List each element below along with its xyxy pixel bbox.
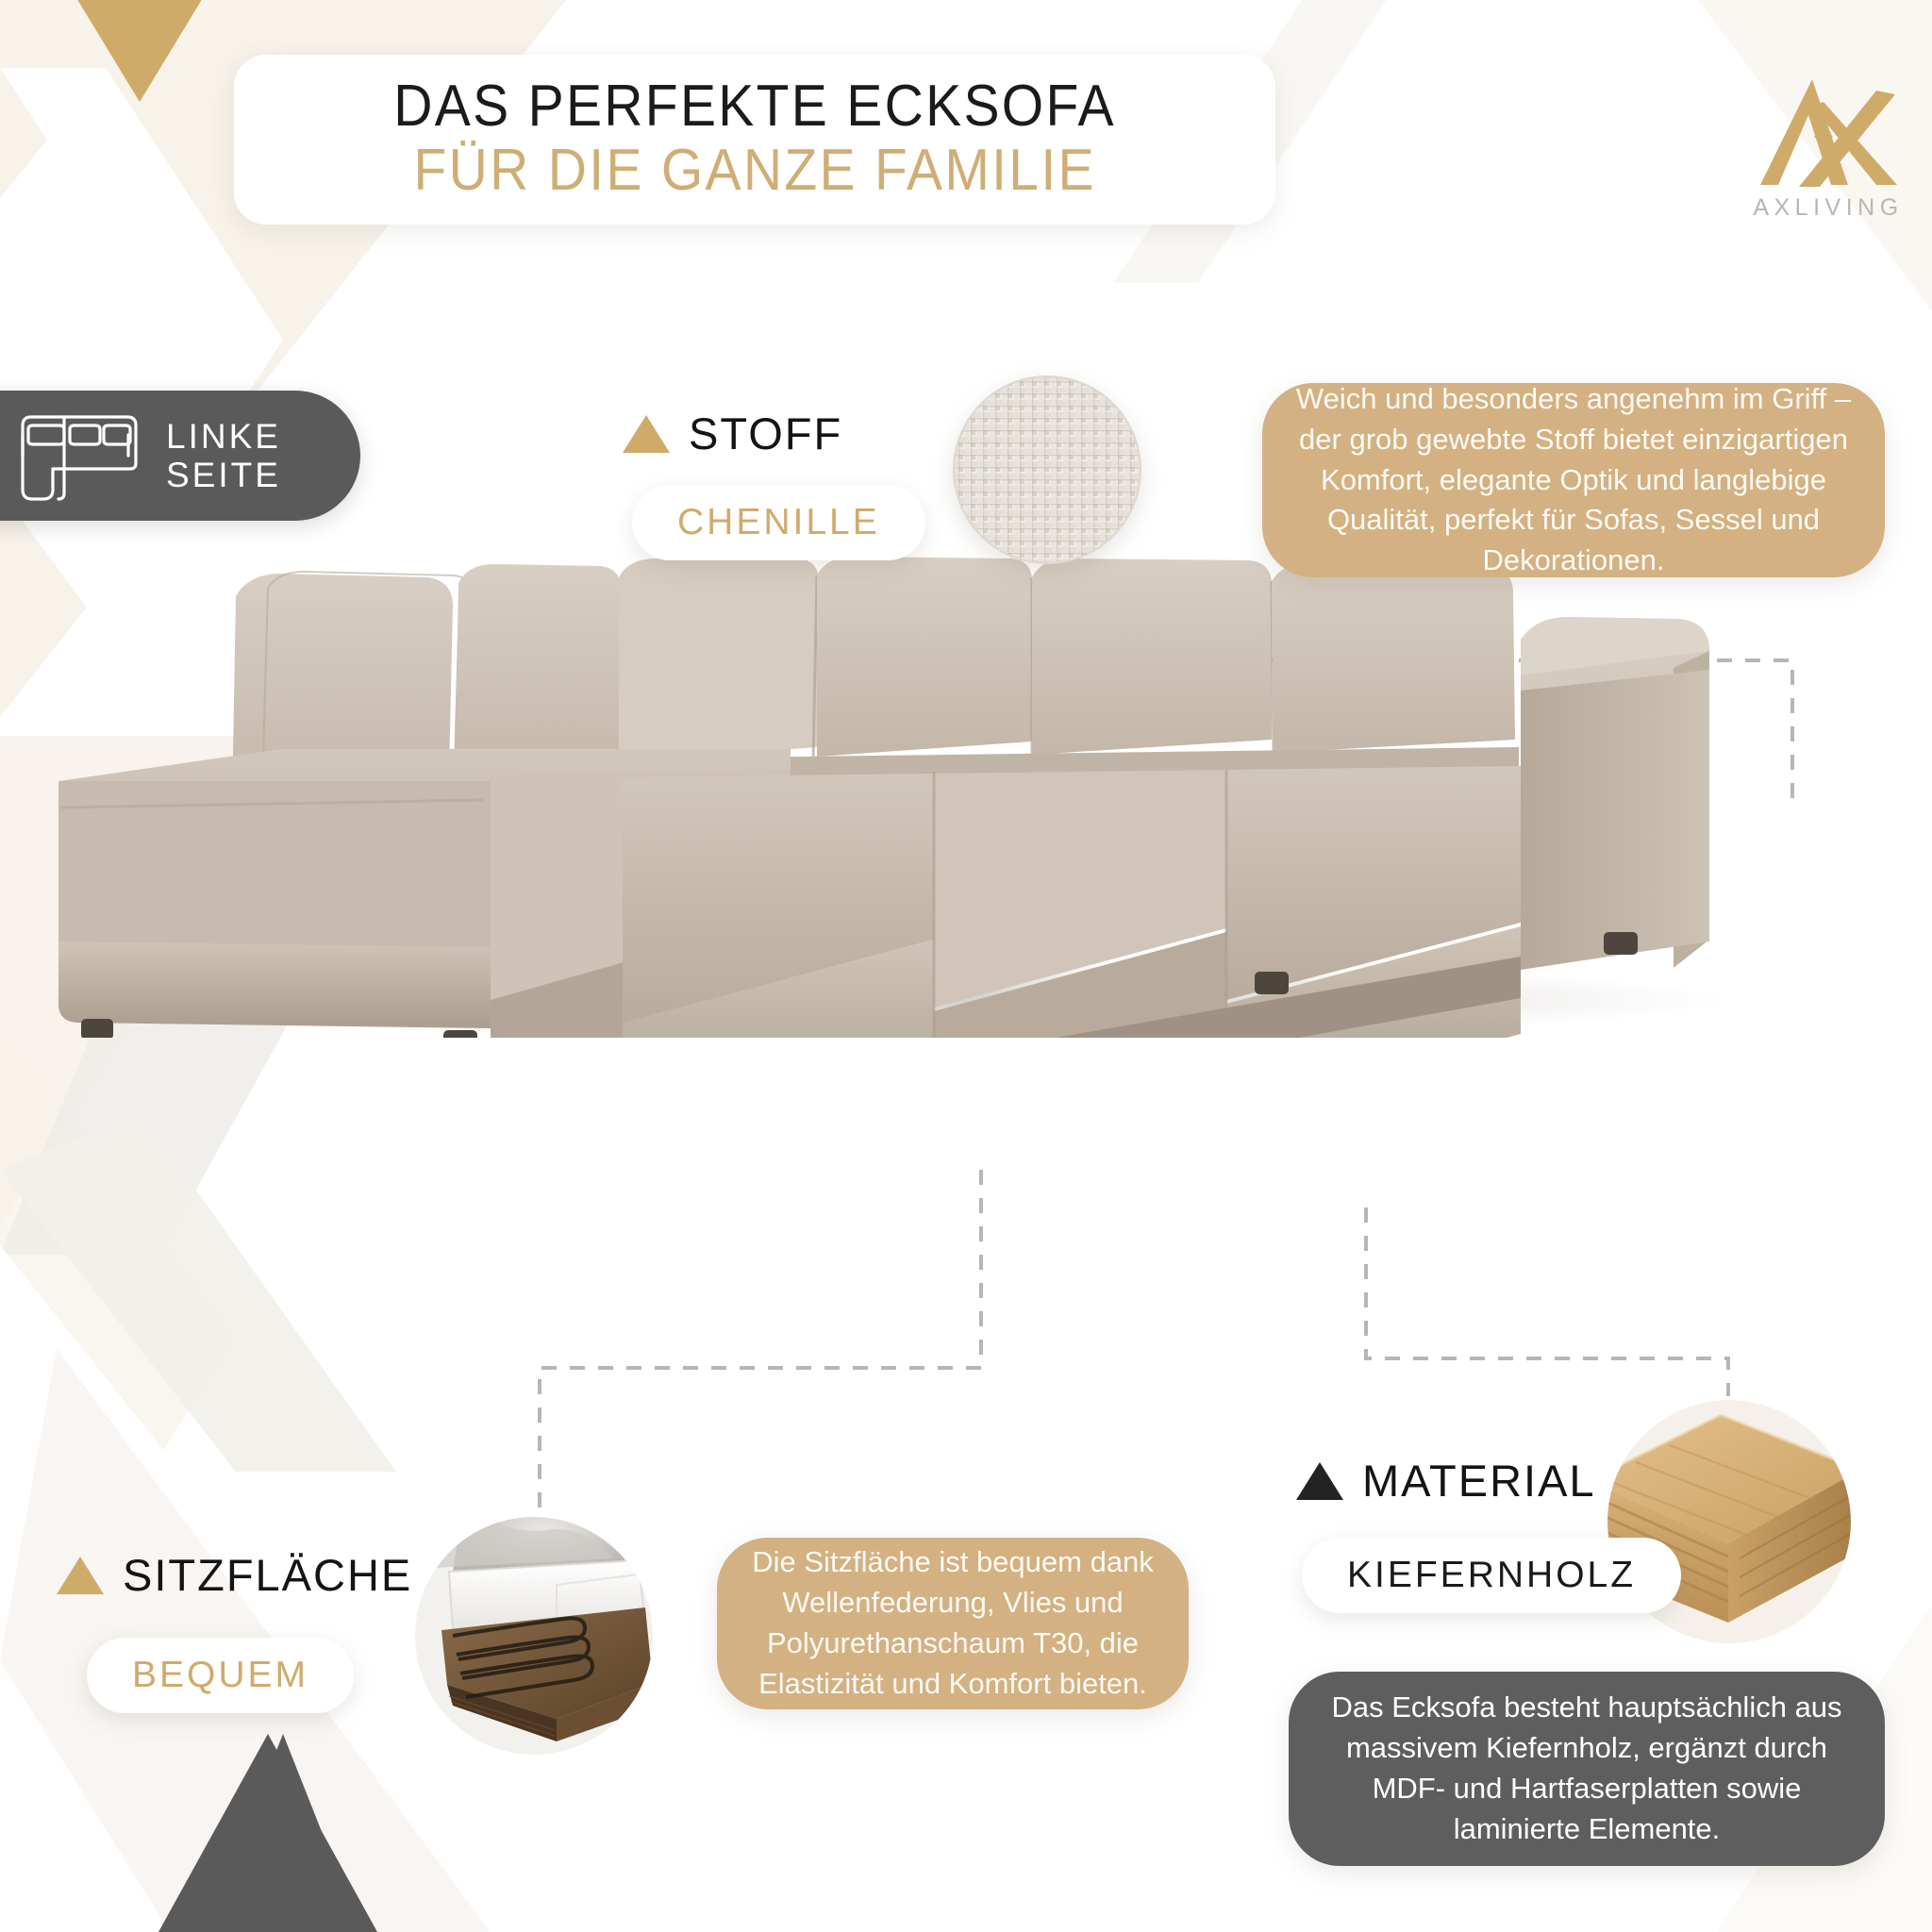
cushion-construction-image xyxy=(415,1517,653,1755)
feature-pill-stoff[interactable]: CHENILLE xyxy=(632,485,925,560)
page-title: DAS PERFEKTE ECKSOFA xyxy=(393,75,1116,138)
feature-description-text-sitzflaeche: Die Sitzfläche ist bequem dank Wellenfed… xyxy=(749,1542,1157,1704)
feature-title-material: MATERIAL xyxy=(1362,1455,1596,1507)
triangle-up-icon xyxy=(57,1557,104,1594)
triangle-up-icon xyxy=(623,415,670,453)
page-subtitle: FÜR DIE GANZE FAMILIE xyxy=(413,138,1095,203)
brand-name: AXLIVING xyxy=(1753,194,1903,222)
fabric-swatch-circle xyxy=(953,375,1141,564)
side-orientation-badge: LINKE SEITE xyxy=(0,391,360,521)
feature-description-text-material: Das Ecksofa besteht hauptsächlich aus ma… xyxy=(1321,1688,1853,1849)
feature-heading-material: MATERIAL xyxy=(1296,1455,1596,1507)
feature-pill-sitzflaeche[interactable]: BEQUEM xyxy=(87,1638,354,1713)
feature-pill-material[interactable]: KIEFERNHOLZ xyxy=(1302,1538,1681,1613)
feature-pill-value-sitzflaeche: BEQUEM xyxy=(132,1655,308,1696)
sofa-top-view-icon xyxy=(17,410,142,501)
feature-description-text-stoff: Weich und besonders angenehm im Griff – … xyxy=(1294,379,1853,581)
side-badge-line2: SEITE xyxy=(166,456,281,494)
feature-title-sitzflaeche: SITZFLÄCHE xyxy=(123,1549,412,1601)
infographic-canvas: DAS PERFEKTE ECKSOFA FÜR DIE GANZE FAMIL… xyxy=(0,0,1932,1932)
feature-title-stoff: STOFF xyxy=(689,408,842,459)
feature-description-stoff: Weich und besonders angenehm im Griff – … xyxy=(1262,383,1885,577)
feature-heading-sitzflaeche: SITZFLÄCHE xyxy=(57,1549,412,1601)
foam-cushion-spring-circle xyxy=(415,1517,653,1755)
triangle-up-icon xyxy=(1296,1462,1343,1500)
feature-description-sitzflaeche: Die Sitzfläche ist bequem dank Wellenfed… xyxy=(717,1538,1189,1709)
side-badge-label: LINKE SEITE xyxy=(166,417,281,495)
header-card: DAS PERFEKTE ECKSOFA FÜR DIE GANZE FAMIL… xyxy=(234,55,1275,225)
brand-logo: AXLIVING xyxy=(1743,74,1913,234)
feature-pill-value-stoff: CHENILLE xyxy=(677,502,880,543)
feature-description-material: Das Ecksofa besteht hauptsächlich aus ma… xyxy=(1289,1672,1885,1866)
ax-monogram-logo xyxy=(1757,74,1899,192)
chenille-texture xyxy=(953,375,1141,564)
feature-heading-stoff: STOFF xyxy=(623,408,842,459)
corner-sofa-image xyxy=(0,528,1932,1038)
side-badge-line1: LINKE xyxy=(166,417,281,456)
feature-pill-value-material: KIEFERNHOLZ xyxy=(1347,1555,1636,1596)
